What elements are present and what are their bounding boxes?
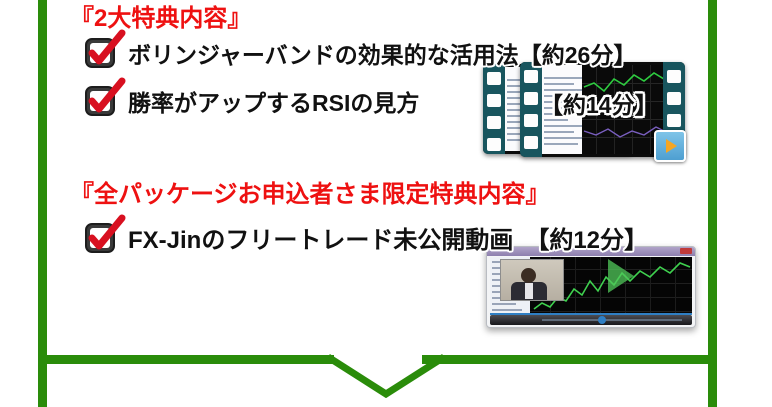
play-icon[interactable] [654, 130, 686, 162]
frame-rail-bottom-right [422, 355, 717, 364]
filmstrip-perforations-left [520, 62, 542, 157]
video-controls-bar[interactable] [490, 315, 692, 325]
checkbox-checked-icon [84, 85, 116, 117]
package-item-1-label: FX-Jinのフリートレード未公開動画 【約12分】 [128, 220, 648, 255]
page-root: 『2大特典内容』 ボリンジャーバンドの効果的な活用法【約26分】 勝率がアップす… [0, 0, 772, 407]
checkbox-checked-icon [84, 37, 116, 69]
seek-bar[interactable] [542, 319, 682, 321]
frame-rail-bottom-left [38, 355, 334, 364]
bonus-item-2-duration: 【約14分】 [540, 86, 658, 120]
bonus-item-2: 勝率がアップするRSIの見方 [84, 84, 419, 118]
frame-rail-left [38, 0, 47, 407]
checkbox-checked-icon [84, 222, 116, 254]
close-icon[interactable] [680, 248, 692, 254]
filmstrip-perforations-left [483, 64, 505, 154]
package-item-1: FX-Jinのフリートレード未公開動画 【約12分】 [84, 220, 648, 255]
play-triangle-icon [666, 139, 677, 153]
bonus-item-1-label: ボリンジャーバンドの効果的な活用法【約26分】 [128, 36, 636, 70]
section-heading-package: 『全パッケージお申込者さま限定特典内容』 [70, 174, 550, 209]
frame-rail-right [708, 0, 717, 407]
down-chevron-icon [320, 352, 452, 398]
bonus-item-2-label: 勝率がアップするRSIの見方 [128, 84, 419, 118]
seek-handle[interactable] [598, 316, 606, 324]
play-overlay-icon[interactable] [608, 259, 634, 293]
bonus-item-1: ボリンジャーバンドの効果的な活用法【約26分】 [84, 36, 636, 70]
video-canvas [490, 257, 692, 315]
presenter-inset [500, 259, 564, 301]
video-player-window[interactable] [486, 246, 696, 328]
